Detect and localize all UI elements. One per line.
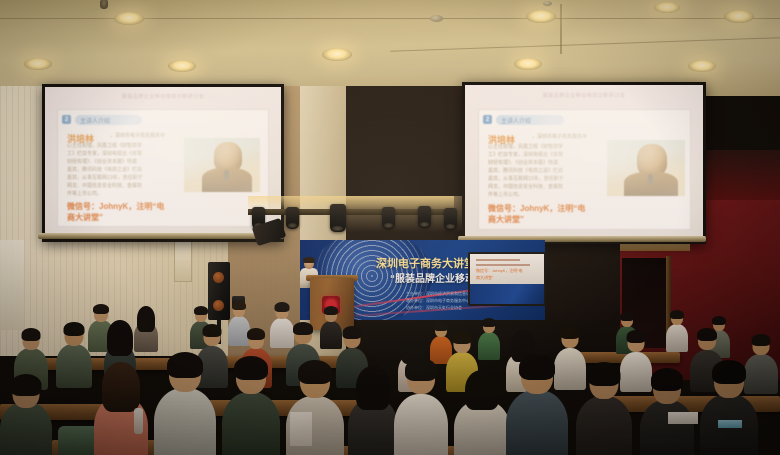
- downlight-icon: [24, 58, 52, 70]
- smoke-detector-icon: [430, 15, 443, 22]
- presenter-hair: [303, 257, 315, 263]
- person-torso: [666, 324, 688, 352]
- audience-member: [700, 360, 758, 455]
- downlight-icon: [526, 10, 556, 23]
- person-hair: [343, 326, 362, 339]
- ceiling-seam: [560, 4, 562, 54]
- monitor-wechat-line-2: 商大讲堂”: [476, 275, 493, 281]
- person-hair: [93, 304, 109, 314]
- confidence-monitor[interactable]: 微信号：JohnyK，注明“电 商大讲堂”: [468, 252, 546, 306]
- stage-spotlight-icon: [286, 207, 299, 229]
- person-hair: [670, 310, 684, 319]
- person-torso: [506, 390, 568, 455]
- downlight-icon: [654, 2, 680, 13]
- audience-member: [576, 362, 632, 455]
- audience-member: [56, 322, 92, 386]
- downlight-icon: [514, 58, 542, 70]
- projection-screen-right[interactable]: 服装品牌企业移动电商诊断研讨会 2 主讲人介绍 洪培林 ，深圳市电子商务服务中 …: [462, 82, 706, 244]
- screen-glare: [45, 87, 281, 239]
- screen-surface: 服装品牌企业移动电商诊断研讨会 2 主讲人介绍 洪培林 ，深圳市电子商务服务中 …: [45, 87, 281, 239]
- person-hair: [203, 324, 222, 337]
- downlight-icon: [168, 60, 196, 72]
- person-hair: [167, 352, 203, 378]
- audience-member: [154, 352, 216, 455]
- person-hair: [64, 322, 85, 336]
- spotlight-lens: [332, 226, 343, 231]
- person-hair: [247, 328, 265, 340]
- stage-spotlight-icon: [418, 206, 431, 228]
- spotlight-lens: [288, 223, 297, 228]
- water-bottle: [134, 408, 143, 434]
- sprinkler-icon: [100, 0, 108, 9]
- monitor-text-line: [476, 264, 530, 266]
- person-hair: [651, 368, 683, 391]
- person-hair: [620, 312, 634, 321]
- downlight-icon: [724, 10, 754, 23]
- document: [718, 420, 742, 428]
- person-hair: [712, 360, 746, 384]
- person-hair: [752, 334, 771, 346]
- person-hair: [298, 360, 332, 384]
- audience-member: [394, 358, 448, 455]
- person-hair-long: [356, 366, 390, 410]
- notebook: [668, 412, 698, 424]
- audience-member: [666, 310, 688, 350]
- spotlight-lens: [384, 223, 393, 228]
- person-hair-long: [137, 306, 155, 332]
- screen-surface: 服装品牌企业移动电商诊断研讨会 2 主讲人介绍 洪培林 ，深圳市电子商务服务中 …: [465, 85, 703, 241]
- downlight-icon: [322, 48, 352, 61]
- person-torso: [576, 396, 632, 455]
- audience-member: [0, 374, 52, 455]
- person-hair: [627, 330, 646, 343]
- stage-spotlight-icon: [330, 204, 346, 232]
- audience-member: [478, 318, 500, 358]
- person-hair: [194, 306, 208, 315]
- screen-roller-bar-left: [38, 233, 284, 239]
- monitor-wechat-line: 微信号：JohnyK，注明“电: [476, 268, 523, 274]
- spotlight-lens: [446, 224, 455, 229]
- wall-trim: [620, 243, 690, 251]
- person-hair: [405, 358, 437, 381]
- person-hair: [434, 322, 448, 331]
- person-hair: [561, 326, 580, 339]
- downlight-icon: [114, 12, 144, 25]
- conference-hall-photo: 服装品牌企业移动电商诊断研讨会 2 主讲人介绍 洪培林 ，深圳市电子商务服务中 …: [0, 0, 780, 455]
- stage-spotlight-icon: [382, 207, 395, 229]
- person-torso: [56, 344, 92, 388]
- person-hair: [453, 332, 472, 344]
- stage-spotlight-icon: [444, 208, 457, 230]
- person-hair: [588, 362, 621, 386]
- audience: [0, 300, 780, 455]
- person-hair: [275, 302, 290, 312]
- audience-member: [506, 354, 568, 455]
- person-torso: [154, 388, 216, 455]
- projection-screen-left[interactable]: 服装品牌企业移动电商诊断研讨会 2 主讲人介绍 洪培林 ，深圳市电子商务服务中 …: [42, 84, 284, 242]
- audience-member: [134, 306, 158, 350]
- person-hair: [712, 316, 726, 325]
- person-hair-long: [107, 320, 133, 356]
- screen-glare: [465, 85, 703, 241]
- person-hair: [697, 328, 717, 341]
- person-hair: [232, 301, 246, 310]
- monitor-text-line: [476, 259, 520, 261]
- monitor-slide-area: 微信号：JohnyK，注明“电 商大讲堂”: [470, 254, 544, 284]
- person-hair-long: [102, 362, 140, 412]
- person-hair: [482, 318, 496, 327]
- audience-member: [222, 356, 280, 455]
- person-hair: [234, 356, 268, 380]
- person-torso: [640, 400, 694, 455]
- wall-notice-board: [174, 238, 192, 282]
- audience-member: [348, 366, 398, 455]
- person-torso: [478, 332, 500, 360]
- handout-paper: [290, 412, 312, 446]
- person-hair: [293, 322, 313, 335]
- person-hair: [22, 328, 41, 341]
- person-torso: [222, 392, 280, 455]
- person-hair: [519, 354, 555, 380]
- speaker-cone-icon: [213, 272, 224, 283]
- person-hair: [11, 374, 42, 396]
- smoke-detector-icon: [543, 1, 552, 6]
- person-torso: [394, 394, 448, 455]
- person-hair-long: [465, 370, 499, 410]
- downlight-icon: [688, 60, 716, 72]
- person-torso: [0, 402, 52, 455]
- spotlight-lens: [420, 222, 429, 227]
- audience-member: [454, 370, 510, 455]
- person-hair: [324, 306, 338, 315]
